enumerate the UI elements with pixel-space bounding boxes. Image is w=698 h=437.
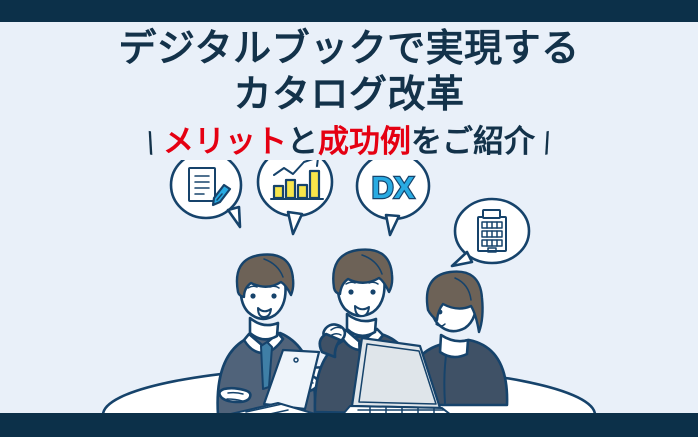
bubble-building (452, 199, 529, 266)
promo-banner: デジタルブックで実現する カタログ改革 \メリットと成功例をご紹介/ .ln {… (0, 0, 698, 437)
bubble-dx: DX (357, 160, 429, 235)
slash-left-decoration: \ (135, 123, 167, 165)
dx-label: DX (371, 170, 414, 205)
subtitle-tail: をご紹介 (411, 124, 535, 159)
meeting-illustration: .ln { fill:none; stroke:#16436b; stroke-… (0, 160, 698, 437)
headline-block: デジタルブックで実現する カタログ改革 \メリットと成功例をご紹介/ (0, 26, 698, 161)
subtitle-accent-merit: メリット (163, 124, 287, 159)
page-title-line-2: カタログ改革 (0, 72, 698, 118)
subtitle-accent-success: 成功例 (318, 124, 411, 159)
bubble-document (171, 160, 241, 227)
slash-right-decoration: / (531, 123, 563, 165)
subtitle: \メリットと成功例をご紹介/ (0, 123, 698, 161)
bubble-bar-chart (258, 160, 332, 234)
top-navy-band (0, 0, 698, 22)
page-title-line-1: デジタルブックで実現する (0, 26, 698, 72)
subtitle-connector: と (287, 124, 318, 159)
bottom-navy-band (0, 413, 698, 437)
